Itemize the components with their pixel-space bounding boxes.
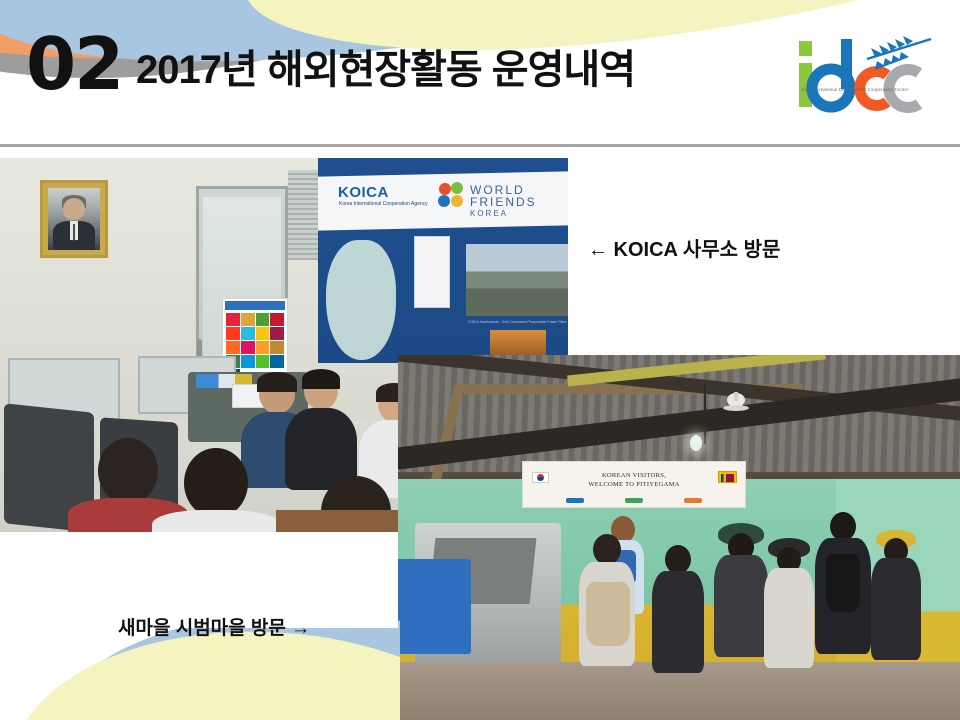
sdg-tile bbox=[270, 327, 284, 340]
person-head bbox=[830, 512, 856, 541]
photo-saemaul-village: KOREAN VISITORS, WELCOME TO PITIYEGAMA bbox=[398, 355, 960, 720]
ceiling-fan-icon bbox=[713, 392, 759, 418]
sdg-tile bbox=[241, 313, 255, 326]
sponsor-logo bbox=[684, 498, 702, 503]
person-head bbox=[665, 545, 691, 574]
person-body bbox=[714, 555, 768, 657]
person-body bbox=[652, 571, 704, 673]
sdg-tile bbox=[256, 355, 270, 368]
person-visitor bbox=[763, 538, 815, 666]
page-title: 2017년 해외현장활동 운영내역 bbox=[136, 48, 635, 92]
machine-blue-panel bbox=[398, 559, 471, 654]
person-seated bbox=[292, 372, 350, 488]
person-hair bbox=[257, 372, 297, 392]
sdg-tile bbox=[256, 313, 270, 326]
idcc-logo-mark bbox=[793, 33, 943, 115]
world-friends-line1: WORLD FRIENDS bbox=[470, 184, 568, 208]
banner-solar-photo bbox=[466, 244, 568, 316]
idcc-logo: Jeju International Development Cooperati… bbox=[793, 33, 943, 115]
koica-brand-subtext: Korea International Cooperation Agency bbox=[339, 201, 428, 208]
sdg-tile bbox=[270, 313, 284, 326]
sponsor-logo bbox=[566, 498, 584, 503]
welcome-banner-text: KOREAN VISITORS, WELCOME TO PITIYEGAMA bbox=[523, 472, 746, 490]
sdg-tile bbox=[226, 341, 240, 354]
backpack bbox=[586, 582, 630, 646]
sdg-tile bbox=[226, 313, 240, 326]
banner-sponsor-logos bbox=[545, 496, 723, 504]
person-foreground bbox=[164, 448, 268, 532]
koica-wall-banner: KOICA Korea International Cooperation Ag… bbox=[318, 158, 568, 363]
person-visitor bbox=[870, 530, 922, 660]
person-body bbox=[764, 568, 814, 668]
banner-photo-caption: KOICA Hambantota - Grid Connected Photov… bbox=[468, 320, 566, 324]
idcc-logo-caption: Jeju International Development Cooperati… bbox=[801, 87, 909, 92]
sdg-poster-header bbox=[225, 301, 285, 310]
koica-brand-text: KOICA bbox=[338, 184, 389, 201]
person-head-back bbox=[98, 438, 158, 504]
person-body bbox=[871, 558, 921, 660]
world-friends-emblem bbox=[436, 180, 466, 210]
sdg-tile bbox=[270, 355, 284, 368]
person-visitor bbox=[651, 545, 705, 671]
bulb-cord bbox=[704, 384, 706, 444]
caption-saemaul-village: 새마을 시범마을 방문 → bbox=[118, 613, 310, 640]
sdg-tile bbox=[256, 341, 270, 354]
welcome-banner: KOREAN VISITORS, WELCOME TO PITIYEGAMA bbox=[522, 461, 747, 508]
sdg-tile bbox=[256, 327, 270, 340]
framed-portrait bbox=[40, 180, 108, 258]
sdg-tile bbox=[241, 341, 255, 354]
portrait-image bbox=[48, 188, 100, 250]
person-body bbox=[152, 510, 281, 532]
slide: 02 2017년 해외현장활동 운영내역 bbox=[0, 0, 960, 720]
sdg-tile bbox=[270, 341, 284, 354]
person-hair bbox=[302, 369, 340, 389]
person-visitor bbox=[578, 534, 636, 664]
world-friends-text: WORLD FRIENDS KOREA bbox=[470, 182, 568, 218]
shoulder-bag bbox=[276, 510, 406, 532]
sdg-tile bbox=[241, 327, 255, 340]
sdg-tile bbox=[241, 355, 255, 368]
person-visitor bbox=[713, 523, 769, 657]
caption-koica-office: ← KOICA 사무소 방문 bbox=[588, 233, 780, 262]
backpack bbox=[826, 554, 860, 612]
welcome-line-2: WELCOME TO PITIYEGAMA bbox=[523, 481, 746, 490]
sponsor-logo bbox=[625, 498, 643, 503]
header-divider bbox=[0, 144, 960, 147]
portrait-head bbox=[63, 198, 86, 220]
welcome-line-1: KOREAN VISITORS, bbox=[523, 472, 746, 481]
sri-lanka-map-graphic bbox=[326, 240, 396, 360]
portrait-tie bbox=[73, 224, 76, 241]
person-head-back bbox=[184, 448, 248, 518]
world-friends-line2: KOREA bbox=[470, 210, 568, 218]
person-head bbox=[593, 534, 621, 565]
section-number: 02 bbox=[26, 28, 122, 100]
banner-info-card bbox=[414, 236, 450, 308]
sdg-tile bbox=[226, 327, 240, 340]
person-visitor bbox=[814, 512, 872, 654]
